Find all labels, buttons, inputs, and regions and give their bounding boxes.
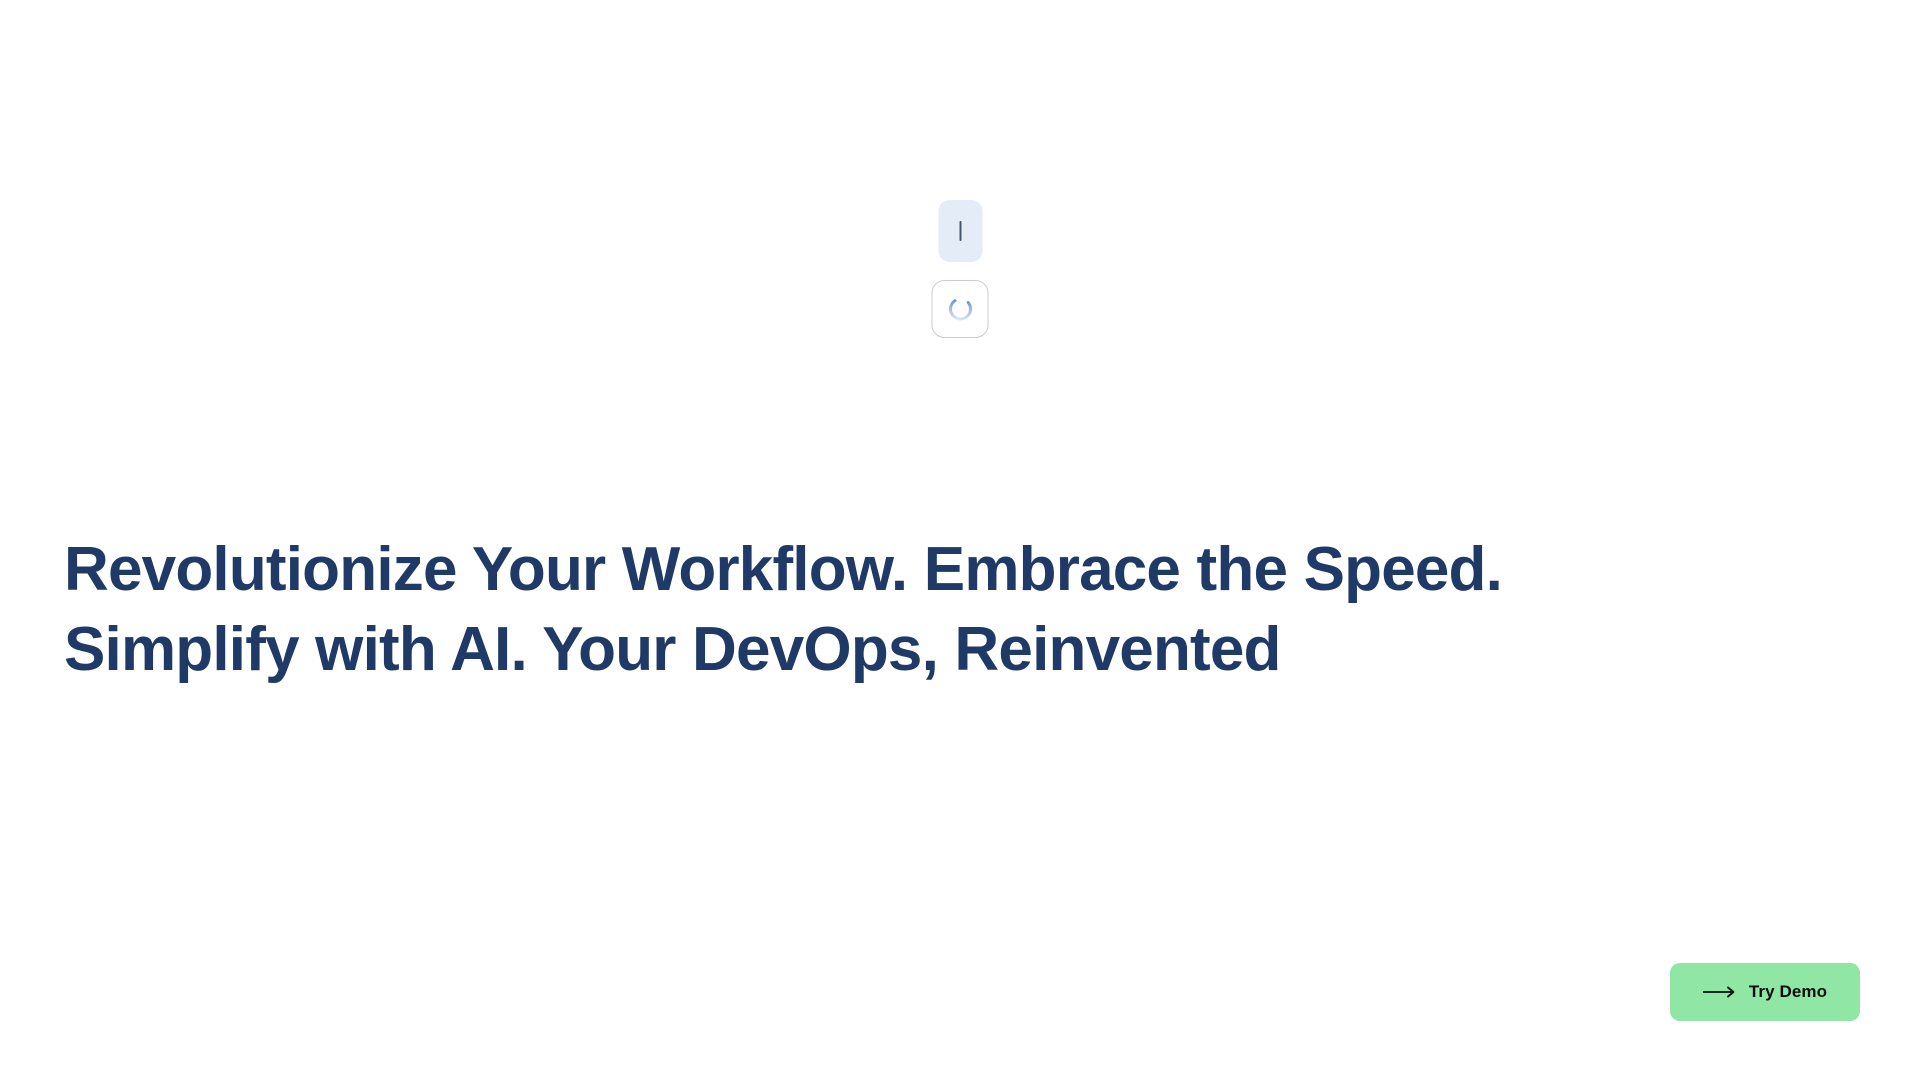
loader-cluster	[932, 200, 989, 338]
try-demo-label: Try Demo	[1749, 982, 1827, 1002]
loading-spinner-tile	[932, 280, 989, 338]
loading-spinner-icon	[947, 296, 973, 322]
text-caret-icon	[959, 221, 961, 241]
try-demo-button[interactable]: Try Demo	[1670, 963, 1860, 1021]
page-title: Revolutionize Your Workflow. Embrace the…	[64, 530, 1824, 690]
arrow-right-icon	[1703, 986, 1737, 998]
landing-page: Revolutionize Your Workflow. Embrace the…	[0, 0, 1920, 1080]
input-caret-tile[interactable]	[938, 200, 982, 262]
